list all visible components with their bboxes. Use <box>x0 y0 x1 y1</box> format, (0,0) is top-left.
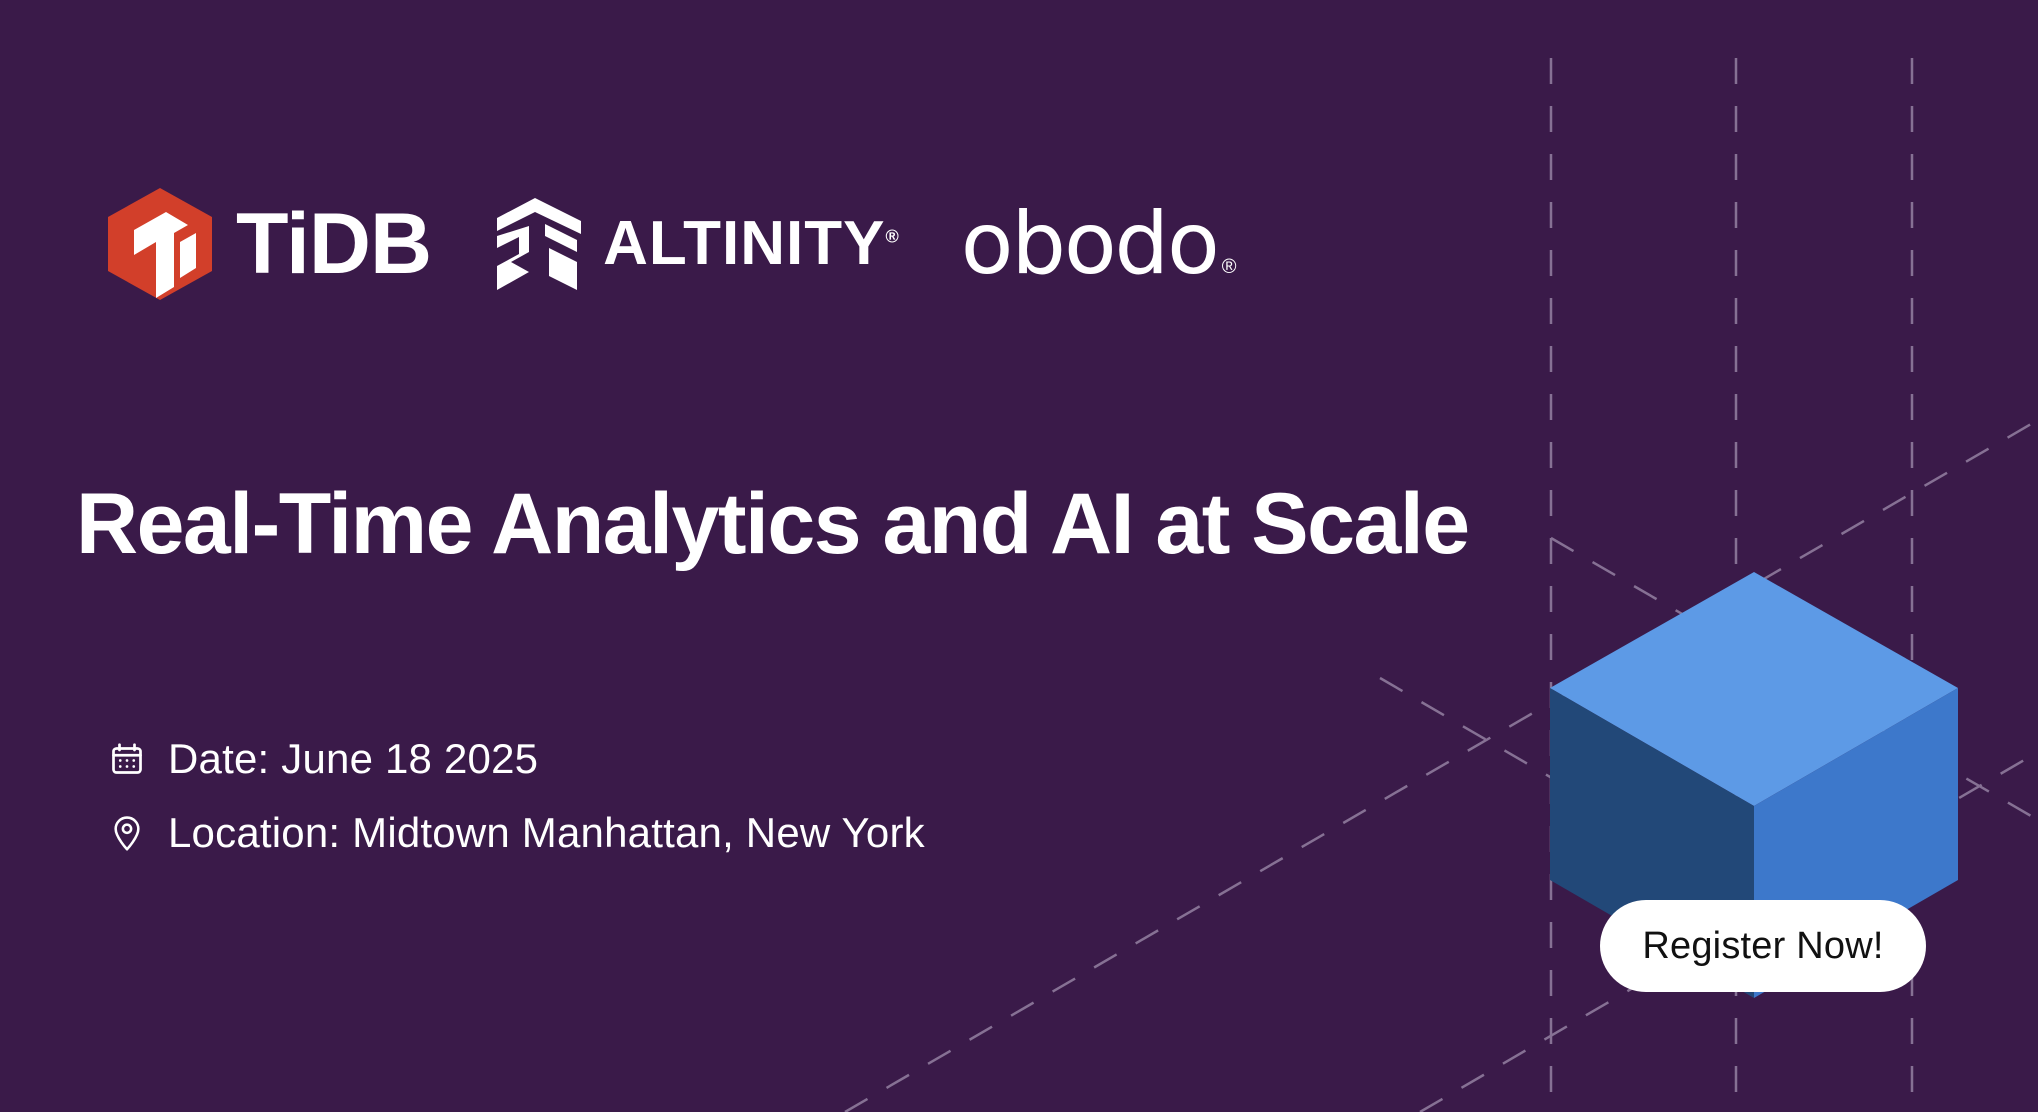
obodo-wordmark: obodo <box>961 201 1218 287</box>
event-banner: TiDB ALTINITY® obodo ® Real-Time Analyti… <box>0 0 2038 1112</box>
event-date-row: Date: June 18 2025 <box>108 735 925 783</box>
event-details: Date: June 18 2025 Location: Midtown Man… <box>108 735 925 857</box>
event-location-row: Location: Midtown Manhattan, New York <box>108 809 925 857</box>
tidb-hexagon-icon <box>104 186 216 302</box>
tidb-wordmark: TiDB <box>236 201 431 287</box>
altinity-wordmark: ALTINITY® <box>603 213 899 275</box>
altinity-logo: ALTINITY® <box>489 196 899 292</box>
tidb-logo: TiDB <box>104 186 431 302</box>
page-title: Real-Time Analytics and AI at Scale <box>76 478 1576 571</box>
partner-logo-row: TiDB ALTINITY® obodo ® <box>104 186 1237 302</box>
event-date-label: Date: June 18 2025 <box>168 735 538 783</box>
obodo-logo: obodo ® <box>961 201 1237 287</box>
altinity-mark-icon <box>489 196 581 292</box>
location-pin-icon <box>108 812 146 854</box>
registered-mark: ® <box>1222 256 1237 279</box>
calendar-icon <box>108 738 146 780</box>
register-now-button[interactable]: Register Now! <box>1600 900 1926 992</box>
registered-mark: ® <box>885 226 898 246</box>
event-location-label: Location: Midtown Manhattan, New York <box>168 809 925 857</box>
